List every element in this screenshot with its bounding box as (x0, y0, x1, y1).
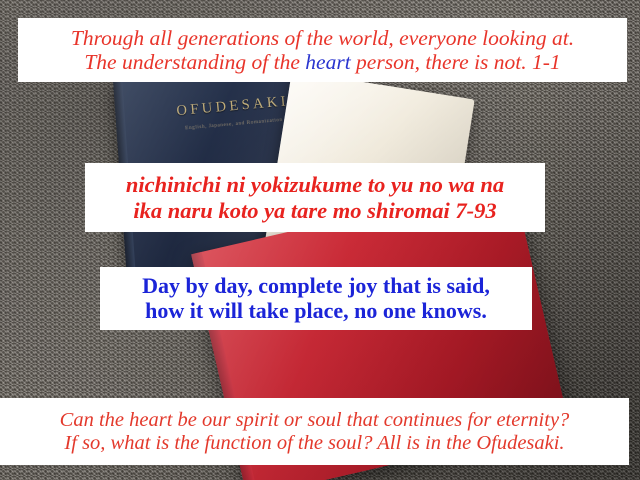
top-caption-heart-highlight: heart (305, 50, 350, 74)
english-line-2: how it will take place, no one knows. (145, 299, 487, 324)
top-caption-line-2: The understanding of the heart person, t… (84, 50, 560, 74)
bottom-question-line-2: If so, what is the function of the soul?… (64, 432, 564, 455)
top-caption-line-1: Through all generations of the world, ev… (71, 26, 574, 50)
top-caption-band: Through all generations of the world, ev… (18, 18, 627, 82)
bottom-question-band: Can the heart be our spirit or soul that… (0, 398, 629, 465)
romaji-line-2: ika naru koto ya tare mo shiromai 7-93 (133, 198, 496, 223)
bottom-question-line-1: Can the heart be our spirit or soul that… (60, 409, 570, 432)
romaji-verse-band: nichinichi ni yokizukume to yu no wa na … (85, 163, 545, 232)
slide-canvas: OFUDESAKI English, Japanese, and Romaniz… (0, 0, 640, 480)
english-translation-band: Day by day, complete joy that is said, h… (100, 267, 532, 330)
english-line-1: Day by day, complete joy that is said, (142, 274, 490, 299)
top-caption-line-2-part-1: The understanding of the (84, 50, 305, 74)
romaji-line-1: nichinichi ni yokizukume to yu no wa na (126, 172, 504, 197)
top-caption-line-2-part-2: person, there is not. 1-1 (351, 50, 561, 74)
